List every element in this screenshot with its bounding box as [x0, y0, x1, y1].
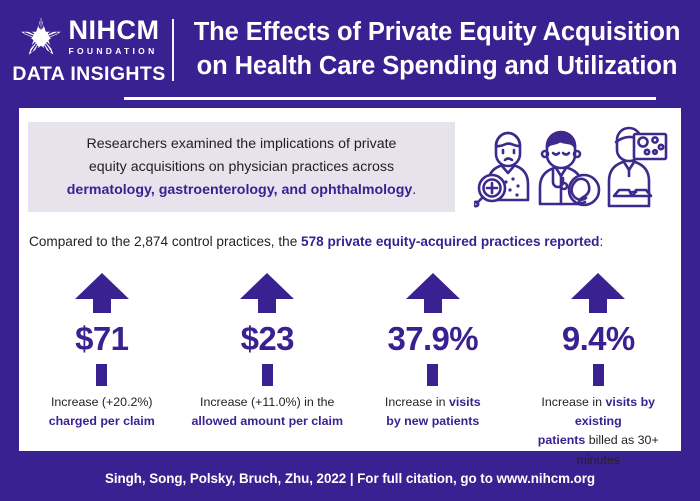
stat-item: 37.9% Increase in visits by new patients: [350, 273, 516, 431]
intro-specialties: dermatology, gastroenterology, and ophth…: [67, 182, 413, 198]
infographic-root: NIHCM FOUNDATION DATA INSIGHTS The Effec…: [0, 0, 700, 501]
up-arrow-neck: [93, 299, 111, 313]
specialty-illustration: [474, 116, 674, 218]
stat-caption-line1-plain: Increase (+20.2%): [51, 395, 153, 409]
intro-line-1: Researchers examined the implications of…: [87, 136, 397, 152]
comparison-highlight: 578 private equity-acquired practices re…: [301, 234, 599, 249]
stat-item: $71 Increase (+20.2%) charged per claim: [19, 273, 185, 431]
page-title-line-2: on Health Care Spending and Utilization: [188, 50, 686, 84]
header-divider: [172, 19, 174, 81]
header-bar: NIHCM FOUNDATION DATA INSIGHTS The Effec…: [0, 0, 700, 100]
up-arrow-icon: [406, 273, 460, 299]
stat-caption-line2-bold: charged per claim: [49, 414, 155, 428]
comparison-pre: Compared to the 2,874 control practices,…: [29, 234, 301, 249]
footer-bar: Singh, Song, Polsky, Bruch, Zhu, 2022 | …: [0, 455, 700, 501]
logo-name: NIHCM: [69, 17, 160, 44]
stat-caption: Increase (+20.2%) charged per claim: [49, 393, 155, 431]
dermatology-patient-magnifier-icon: [474, 133, 528, 206]
ophthalmology-doctor-glasses-icon: [609, 128, 666, 206]
up-arrow-icon: [240, 273, 294, 299]
stat-value: $23: [241, 322, 294, 355]
stat-caption-line2-bold: allowed amount per claim: [192, 414, 343, 428]
nihcm-logo: NIHCM FOUNDATION DATA INSIGHTS: [0, 15, 170, 86]
header-underline: [124, 97, 656, 100]
stat-value: $71: [75, 322, 128, 355]
stat-caption-line1-plain: Increase in: [385, 395, 449, 409]
stat-value: 9.4%: [562, 322, 635, 355]
stat-caption-line1-bold: visits: [449, 395, 481, 409]
stat-caption-line1-plain: Increase (+11.0%) in the: [200, 395, 334, 409]
gastroenterology-doctor-stomach-icon: [540, 132, 599, 205]
stat-caption: Increase in visits by new patients: [385, 393, 481, 431]
page-title: The Effects of Private Equity Acquisitio…: [188, 16, 700, 83]
stats-row: $71 Increase (+20.2%) charged per claim …: [19, 273, 681, 443]
stat-value: 37.9%: [387, 322, 478, 355]
comparison-post: :: [599, 234, 603, 249]
up-arrow-neck: [424, 299, 442, 313]
stat-caption-line2-bold: patients: [538, 433, 586, 447]
logo-subtitle: FOUNDATION: [69, 47, 158, 56]
up-arrow-tail: [427, 364, 438, 386]
up-arrow-icon: [75, 273, 129, 299]
stat-item: $23 Increase (+11.0%) in the allowed amo…: [185, 273, 351, 431]
logo-series-label: DATA INSIGHTS: [12, 63, 165, 86]
up-arrow-icon: [571, 273, 625, 299]
up-arrow-neck: [258, 299, 276, 313]
up-arrow-tail: [96, 364, 107, 386]
intro-text: Researchers examined the implications of…: [53, 133, 430, 202]
content-panel: Researchers examined the implications of…: [19, 108, 681, 451]
citation-text: Singh, Song, Polsky, Bruch, Zhu, 2022 | …: [105, 471, 595, 486]
intro-line-2: equity acquisitions on physician practic…: [89, 159, 394, 175]
intro-period: .: [412, 182, 416, 198]
intro-box: Researchers examined the implications of…: [28, 122, 455, 212]
nihcm-star-icon: [19, 15, 63, 59]
stat-item: 9.4% Increase in visits by existing pati…: [516, 273, 682, 470]
up-arrow-tail: [593, 364, 604, 386]
stat-caption: Increase (+11.0%) in the allowed amount …: [192, 393, 343, 431]
up-arrow-neck: [589, 299, 607, 313]
page-title-line-1: The Effects of Private Equity Acquisitio…: [188, 16, 686, 50]
stat-caption-line1-plain: Increase in: [541, 395, 605, 409]
comparison-statement: Compared to the 2,874 control practices,…: [29, 234, 671, 249]
stat-caption-line2-bold: by new patients: [386, 414, 479, 428]
up-arrow-tail: [262, 364, 273, 386]
